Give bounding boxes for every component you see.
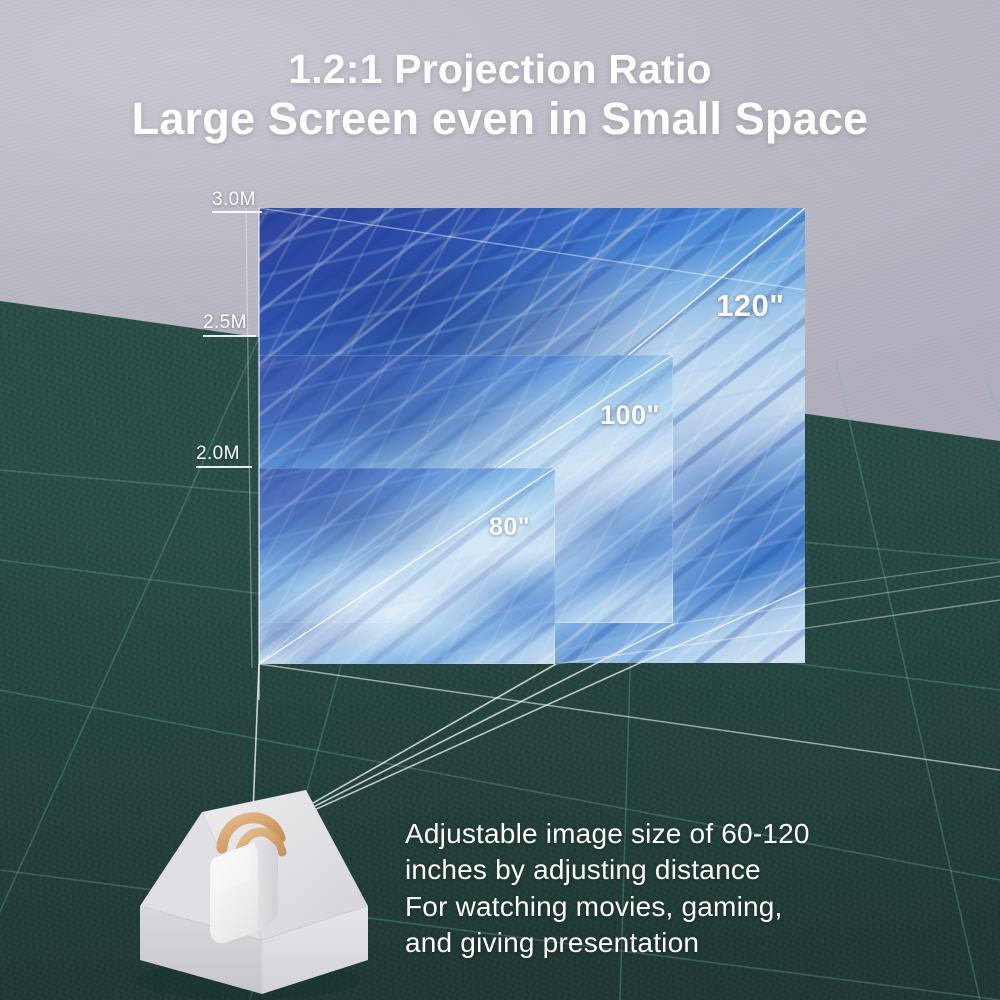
caption-line-1: Adjustable image size of 60-120 [405, 816, 925, 852]
headline-line-2: Large Screen even in Small Space [0, 95, 1000, 143]
distance-label-20m: 2.0M [196, 443, 240, 465]
distance-label-3m: 3.0M [212, 189, 256, 211]
distance-label-25m: 2.5M [203, 312, 247, 334]
screen-glass-overlay [259, 468, 555, 664]
headline: 1.2:1 Projection Ratio Large Screen even… [0, 48, 1000, 143]
headline-line-1: 1.2:1 Projection Ratio [0, 48, 1000, 91]
screen-size-label-100: 100" [600, 400, 660, 431]
caption-block: Adjustable image size of 60-120 inches b… [405, 816, 925, 962]
screen-size-label-80: 80" [489, 513, 530, 542]
projection-screen-80 [259, 468, 555, 664]
caption-line-4: and giving presentation [405, 925, 925, 961]
product-infographic: 120" 100" 80" 3.0M 2.5M 2.0M [0, 0, 1000, 1000]
caption-line-3: For watching movies, gaming, [405, 889, 925, 925]
display-pedestal [120, 780, 370, 1000]
caption-line-2: inches by adjusting distance [405, 852, 925, 888]
screen-size-label-120: 120" [716, 288, 784, 324]
